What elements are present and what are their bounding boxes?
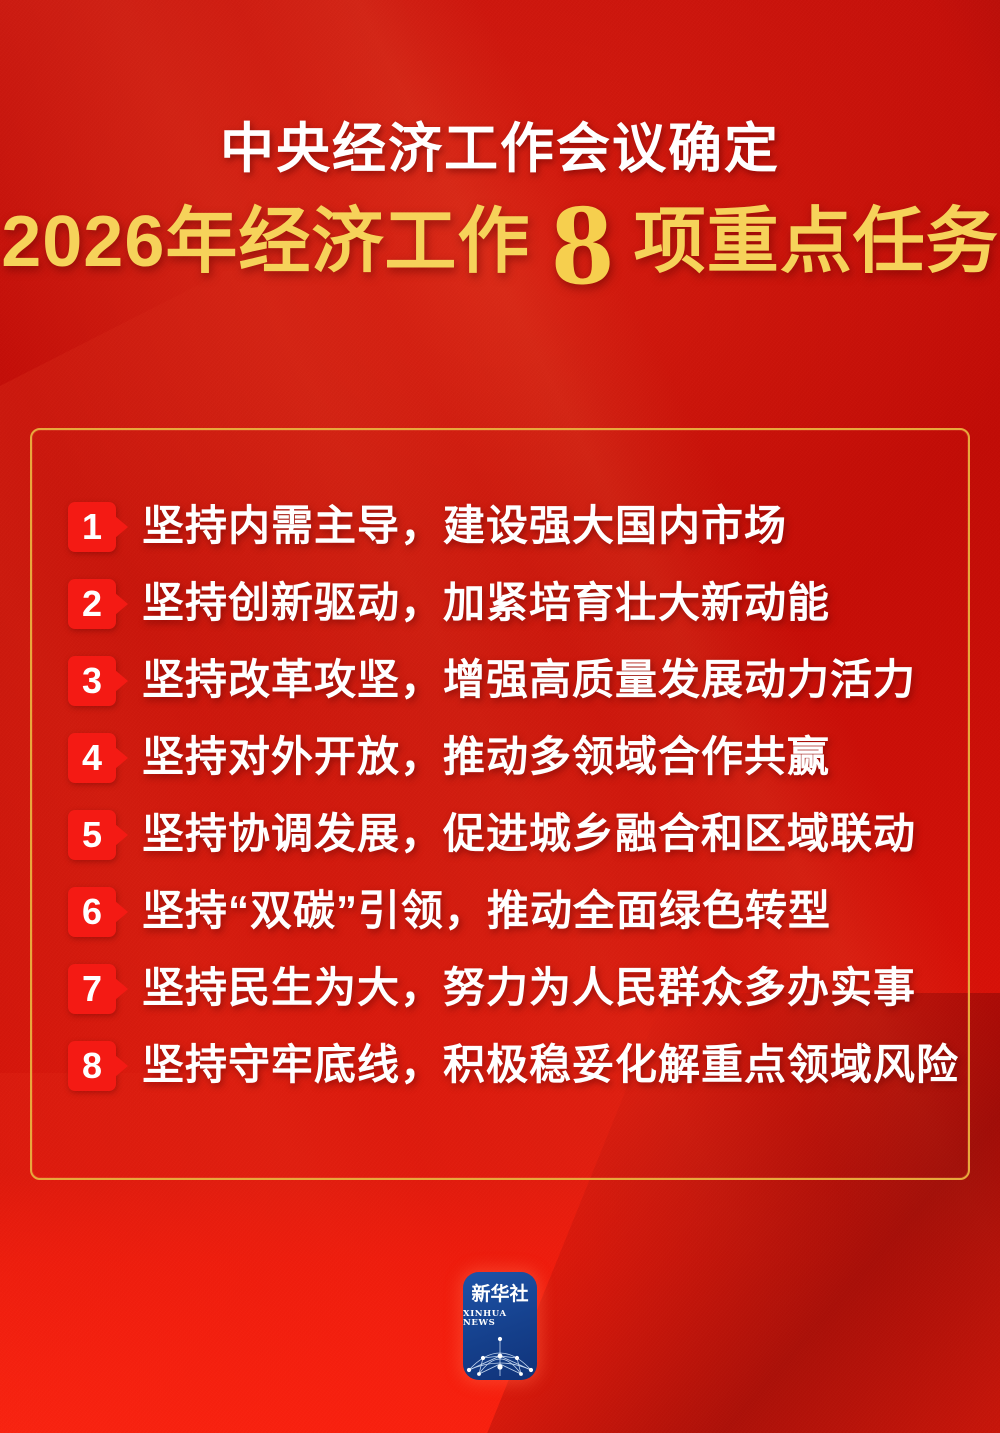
- task-text-label: 坚持内需主导，建设强大国内市场: [142, 503, 787, 549]
- task-row: 7坚持民生为大，努力为人民群众多办实事: [68, 950, 948, 1027]
- task-number-badge: 7: [68, 964, 116, 1014]
- task-list-frame: 1坚持内需主导，建设强大国内市场2坚持创新驱动，加紧培育壮大新动能3坚持改革攻坚…: [30, 428, 970, 1180]
- task-number-label: 7: [82, 971, 102, 1007]
- task-row: 1坚持内需主导，建设强大国内市场: [68, 488, 948, 565]
- poster-header: 中央经济工作会议确定 2026年经济工作 8 项重点任务: [0, 118, 1000, 283]
- task-number-label: 8: [82, 1048, 102, 1084]
- headline-subtitle: 中央经济工作会议确定: [0, 118, 1000, 180]
- task-list: 1坚持内需主导，建设强大国内市场2坚持创新驱动，加紧培育壮大新动能3坚持改革攻坚…: [68, 488, 948, 1104]
- task-row: 3坚持改革攻坚，增强高质量发展动力活力: [68, 642, 948, 719]
- logo-network-globe-icon: [463, 1330, 537, 1378]
- task-number-label: 3: [82, 663, 102, 699]
- task-text-label: 坚持对外开放，推动多领域合作共赢: [142, 734, 830, 780]
- task-number-label: 4: [82, 740, 102, 776]
- xinhua-news-logo-icon: 新华社 XINHUA NEWS: [463, 1272, 537, 1380]
- logo-name-en: XINHUA NEWS: [463, 1310, 537, 1327]
- task-number-badge: 2: [68, 579, 116, 629]
- task-text-label: 坚持“双碳”引领，推动全面绿色转型: [142, 888, 831, 934]
- poster-root: 中央经济工作会议确定 2026年经济工作 8 项重点任务 1坚持内需主导，建设强…: [0, 0, 1000, 1433]
- task-number-badge: 1: [68, 502, 116, 552]
- task-row: 5坚持协调发展，促进城乡融合和区域联动: [68, 796, 948, 873]
- task-number-badge: 6: [68, 887, 116, 937]
- headline-title: 2026年经济工作 8 项重点任务: [0, 202, 1000, 283]
- task-text-label: 坚持协调发展，促进城乡融合和区域联动: [142, 811, 916, 857]
- task-number-badge: 3: [68, 656, 116, 706]
- task-text-label: 坚持改革攻坚，增强高质量发展动力活力: [142, 657, 916, 703]
- logo-name-cn: 新华社: [471, 1285, 528, 1304]
- headline-highlight-number: 8: [550, 205, 617, 289]
- task-number-label: 2: [82, 586, 102, 622]
- task-row: 4坚持对外开放，推动多领域合作共赢: [68, 719, 948, 796]
- task-number-badge: 8: [68, 1041, 116, 1091]
- task-number-badge: 5: [68, 810, 116, 860]
- task-text-label: 坚持守牢底线，积极稳妥化解重点领域风险: [142, 1042, 959, 1088]
- task-text-label: 坚持民生为大，努力为人民群众多办实事: [142, 965, 916, 1011]
- task-number-label: 5: [82, 817, 102, 853]
- headline-title-part2: 项重点任务: [634, 204, 999, 282]
- task-row: 6坚持“双碳”引领，推动全面绿色转型: [68, 873, 948, 950]
- task-row: 2坚持创新驱动，加紧培育壮大新动能: [68, 565, 948, 642]
- headline-title-part1: 2026年经济工作: [1, 204, 530, 282]
- task-text-label: 坚持创新驱动，加紧培育壮大新动能: [142, 580, 830, 626]
- logo-box: 新华社 XINHUA NEWS: [463, 1272, 537, 1380]
- task-number-label: 1: [82, 509, 102, 545]
- task-number-badge: 4: [68, 733, 116, 783]
- task-row: 8坚持守牢底线，积极稳妥化解重点领域风险: [68, 1027, 948, 1104]
- task-number-label: 6: [82, 894, 102, 930]
